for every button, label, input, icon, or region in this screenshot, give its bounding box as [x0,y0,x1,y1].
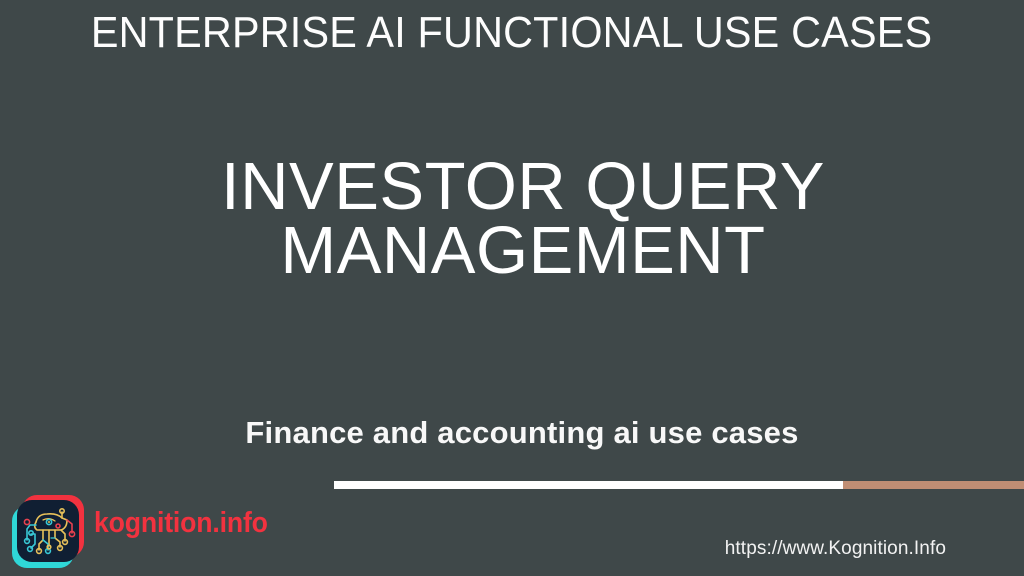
slide-canvas: ENTERPRISE AI FUNCTIONAL USE CASES INVES… [0,0,1024,576]
title-block: INVESTOR QUERY MANAGEMENT [0,155,1024,283]
logo-wordmark: kognition.info [94,509,268,538]
page-title-line-1: INVESTOR QUERY [0,155,1024,219]
footer-url[interactable]: https://www.Kognition.Info [0,538,1024,561]
logo-lockup[interactable]: kognition.info [8,493,258,573]
header-title: ENTERPRISE AI FUNCTIONAL USE CASES [91,11,932,55]
header-band: ENTERPRISE AI FUNCTIONAL USE CASES [0,0,1024,66]
divider-rule [334,481,1024,489]
divider-segment-tan [843,481,1024,489]
subtitle: Finance and accounting ai use cases [0,416,1024,450]
divider-segment-white [334,481,843,489]
page-title-line-2: MANAGEMENT [0,219,1024,283]
